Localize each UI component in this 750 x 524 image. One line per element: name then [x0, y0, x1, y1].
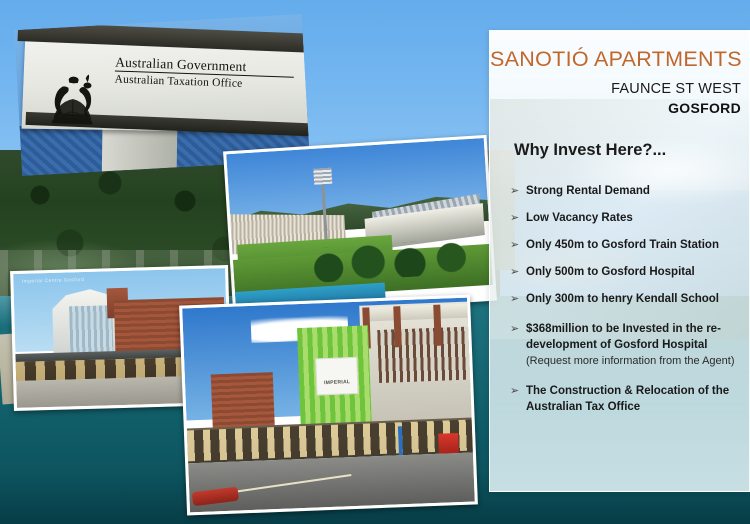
- list-item: ➢ Only 450m to Gosford Train Station: [510, 237, 741, 253]
- imperial-sign-text: IMPERIAL: [317, 379, 357, 387]
- street-column-2: [393, 306, 402, 347]
- list-item: ➢ $368million to be Invested in the re- …: [510, 321, 741, 369]
- list-item: ➢ Only 300m to henry Kendall School: [510, 291, 741, 307]
- list-item: ➢ The Construction & Relocation of the A…: [510, 383, 741, 415]
- list-item-label: Only 500m to Gosford Hospital: [526, 264, 695, 280]
- imperial-centre-sign: IMPERIAL: [315, 357, 358, 395]
- list-item: ➢ Low Vacancy Rates: [510, 210, 741, 226]
- list-item-label: Low Vacancy Rates: [526, 210, 633, 226]
- arrow-bullet-icon: ➢: [510, 321, 526, 337]
- street-heritage-brick-building: [210, 372, 275, 431]
- list-item-line2: Australian Tax Office: [526, 399, 729, 415]
- slide-canvas: Australian Government Australian Taxatio…: [0, 0, 750, 524]
- ato-sign-text: Australian Government Australian Taxatio…: [114, 54, 294, 92]
- list-item-label: Only 450m to Gosford Train Station: [526, 237, 719, 253]
- photo-stadium: [223, 135, 497, 317]
- street-louvre-screen: [377, 326, 470, 382]
- mall-glass-atrium: [69, 305, 113, 357]
- list-item-label: The Construction & Relocation of the Aus…: [526, 383, 729, 415]
- list-item-label: Only 300m to henry Kendall School: [526, 291, 719, 307]
- property-suburb-subtitle: GOSFORD: [668, 100, 741, 116]
- list-item-line1: $368million to be Invested in the re-: [526, 323, 721, 335]
- arrow-bullet-icon: ➢: [510, 237, 526, 253]
- arrow-bullet-icon: ➢: [510, 264, 526, 280]
- property-info-panel: SANOTIÓ APARTMENTS FAUNCE ST WEST GOSFOR…: [489, 30, 750, 492]
- page-title: SANOTIÓ APARTMENTS: [490, 47, 741, 72]
- list-item-line1: The Construction & Relocation of the: [526, 385, 729, 397]
- arrow-bullet-icon: ➢: [510, 210, 526, 226]
- list-item-line2: development of Gosford Hospital: [526, 337, 734, 353]
- arrow-bullet-icon: ➢: [510, 183, 526, 199]
- arrow-bullet-icon: ➢: [510, 383, 526, 399]
- photo-main-street: IMPERIAL: [179, 294, 478, 515]
- property-street-subtitle: FAUNCE ST WEST: [611, 81, 741, 97]
- list-item-note: (Request more information from the Agent…: [526, 353, 734, 369]
- arrow-bullet-icon: ➢: [510, 291, 526, 307]
- section-heading-why-invest: Why Invest Here?...: [514, 141, 666, 160]
- list-item-label: $368million to be Invested in the re- de…: [526, 321, 734, 369]
- street-column-3: [433, 305, 442, 346]
- street-roadway: [188, 453, 475, 513]
- list-item: ➢ Strong Rental Demand: [510, 183, 741, 199]
- list-item-label: Strong Rental Demand: [526, 183, 650, 199]
- list-item: ➢ Only 500m to Gosford Hospital: [510, 264, 741, 280]
- australian-coat-of-arms-icon: [46, 70, 100, 126]
- investment-benefits-list: ➢ Strong Rental Demand ➢ Low Vacancy Rat…: [510, 183, 741, 427]
